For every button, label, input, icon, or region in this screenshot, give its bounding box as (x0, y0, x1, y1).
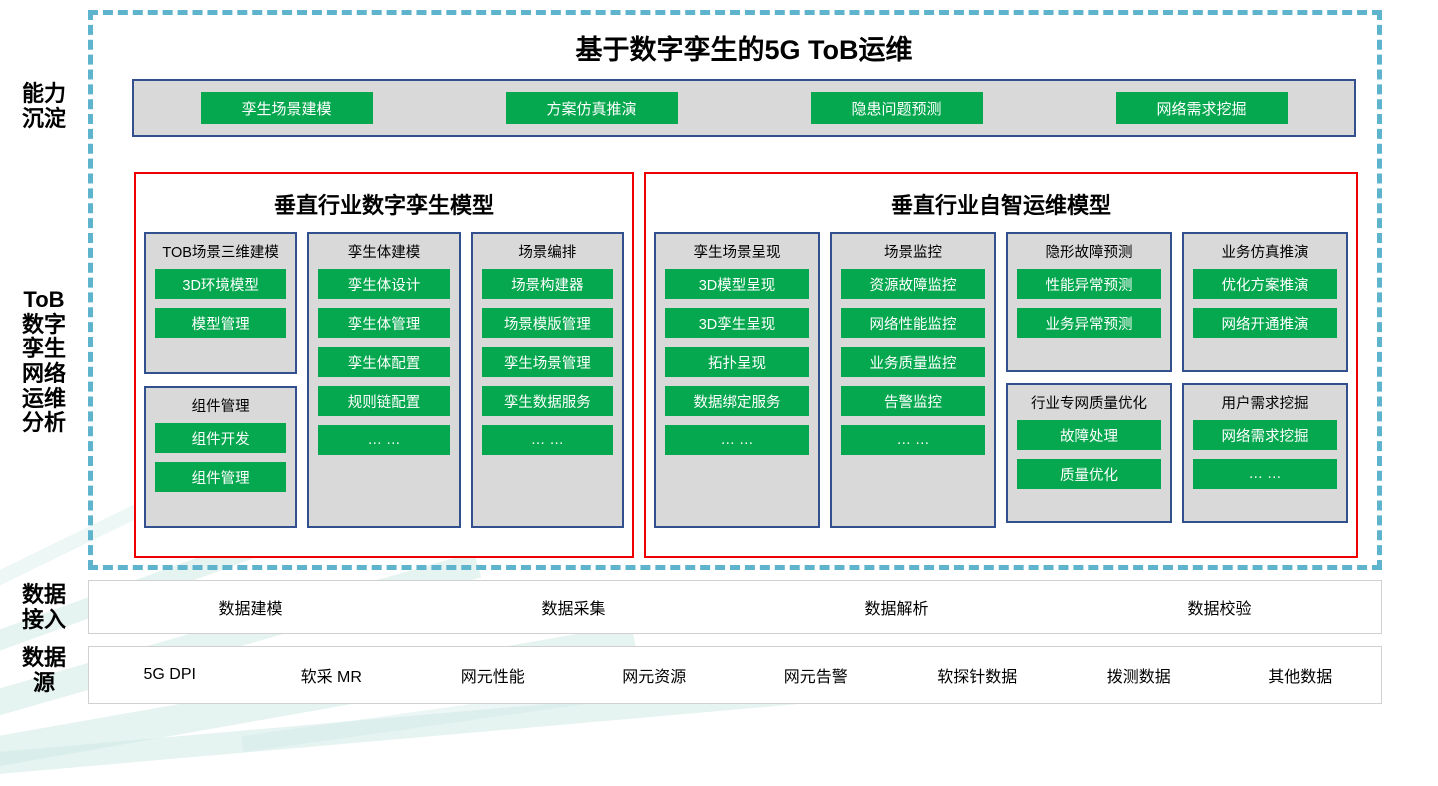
feature-chip[interactable]: 性能异常预测 (1017, 269, 1161, 299)
data-source-row: 5G DPI 软采 MR 网元性能 网元资源 网元告警 软探针数据 拨测数据 其… (88, 646, 1382, 704)
group-items: 性能异常预测 业务异常预测 (1017, 269, 1161, 338)
feature-chip[interactable]: 网络性能监控 (841, 308, 985, 338)
group-items: 孪生体设计 孪生体管理 孪生体配置 规则链配置 … … (318, 269, 449, 455)
feature-chip[interactable]: … … (318, 425, 449, 455)
group-items: 资源故障监控 网络性能监控 业务质量监控 告警监控 … … (841, 269, 985, 455)
diagram-canvas: 能力沉淀 ToB数字孪生网络运维分析 数据接入 数据源 基于数字孪生的5G To… (0, 0, 1438, 734)
feature-chip[interactable]: 优化方案推演 (1193, 269, 1337, 299)
feature-chip[interactable]: 孪生体配置 (318, 347, 449, 377)
feature-chip[interactable]: 网络需求挖掘 (1193, 420, 1337, 450)
capability-slot: 方案仿真推演 (439, 92, 744, 124)
feature-chip[interactable]: 3D环境模型 (155, 269, 286, 299)
ops-column-3: 隐形故障预测 性能异常预测 业务异常预测 行业专网质量优化 故障处理 质量优化 (1006, 232, 1172, 528)
feature-chip[interactable]: 模型管理 (155, 308, 286, 338)
feature-chip[interactable]: 质量优化 (1017, 459, 1161, 489)
feature-chip[interactable]: 孪生体设计 (318, 269, 449, 299)
side-label-tob: ToB数字孪生网络运维分析 (4, 288, 84, 436)
ops-column-4: 业务仿真推演 优化方案推演 网络开通推演 用户需求挖掘 网络需求挖掘 … … (1182, 232, 1348, 528)
data-access-cell: 数据解析 (735, 595, 1058, 619)
data-access-cell: 数据采集 (412, 595, 735, 619)
ops-model-panel-title: 垂直行业自智运维模型 (646, 188, 1356, 220)
side-label-capability: 能力沉淀 (4, 82, 84, 131)
data-source-cell: 其他数据 (1220, 663, 1382, 687)
feature-chip[interactable]: 规则链配置 (318, 386, 449, 416)
feature-chip[interactable]: 故障处理 (1017, 420, 1161, 450)
feature-chip[interactable]: … … (1193, 459, 1337, 489)
group-title: 孪生场景呈现 (665, 241, 809, 262)
group-scene-monitoring: 场景监控 资源故障监控 网络性能监控 业务质量监控 告警监控 … … (830, 232, 996, 528)
ops-model-columns: 孪生场景呈现 3D模型呈现 3D孪生呈现 拓扑呈现 数据绑定服务 … … 场景监… (654, 232, 1348, 528)
data-access-row: 数据建模 数据采集 数据解析 数据校验 (88, 580, 1382, 634)
group-items: 场景构建器 场景模版管理 孪生场景管理 孪生数据服务 … … (482, 269, 613, 455)
group-private-network-quality: 行业专网质量优化 故障处理 质量优化 (1006, 383, 1172, 523)
twin-model-columns: TOB场景三维建模 3D环境模型 模型管理 组件管理 组件开发 组件管理 (144, 232, 624, 528)
data-source-cell: 软采 MR (251, 663, 413, 687)
data-access-cell: 数据建模 (89, 595, 412, 619)
ops-column-2: 场景监控 资源故障监控 网络性能监控 业务质量监控 告警监控 … … (830, 232, 996, 528)
data-source-cell: 5G DPI (89, 666, 251, 684)
group-component-management: 组件管理 组件开发 组件管理 (144, 386, 297, 528)
group-items: 组件开发 组件管理 (155, 423, 286, 492)
feature-chip[interactable]: 场景模版管理 (482, 308, 613, 338)
group-title: TOB场景三维建模 (155, 241, 286, 262)
group-items: 3D模型呈现 3D孪生呈现 拓扑呈现 数据绑定服务 … … (665, 269, 809, 455)
main-title: 基于数字孪生的5G ToB运维 (130, 28, 1358, 64)
twin-column-3: 场景编排 场景构建器 场景模版管理 孪生场景管理 孪生数据服务 … … (471, 232, 624, 528)
group-title: 场景监控 (841, 241, 985, 262)
twin-column-2: 孪生体建模 孪生体设计 孪生体管理 孪生体配置 规则链配置 … … (307, 232, 460, 528)
group-title: 场景编排 (482, 241, 613, 262)
group-title: 用户需求挖掘 (1193, 392, 1337, 413)
data-access-cell: 数据校验 (1058, 595, 1381, 619)
feature-chip[interactable]: 网络开通推演 (1193, 308, 1337, 338)
side-label-data-access: 数据接入 (4, 583, 84, 632)
feature-chip[interactable]: 业务异常预测 (1017, 308, 1161, 338)
data-source-cell: 网元告警 (735, 663, 897, 687)
feature-chip[interactable]: 3D模型呈现 (665, 269, 809, 299)
capability-chip[interactable]: 方案仿真推演 (506, 92, 678, 124)
feature-chip[interactable]: 孪生场景管理 (482, 347, 613, 377)
feature-chip[interactable]: 告警监控 (841, 386, 985, 416)
ops-model-panel: 垂直行业自智运维模型 孪生场景呈现 3D模型呈现 3D孪生呈现 拓扑呈现 数据绑… (644, 172, 1358, 558)
group-business-simulation: 业务仿真推演 优化方案推演 网络开通推演 (1182, 232, 1348, 372)
twin-model-panel-title: 垂直行业数字孪生模型 (136, 188, 632, 220)
group-title: 行业专网质量优化 (1017, 392, 1161, 413)
group-title: 隐形故障预测 (1017, 241, 1161, 262)
feature-chip[interactable]: 组件开发 (155, 423, 286, 453)
capability-chip[interactable]: 隐患问题预测 (811, 92, 983, 124)
group-title: 孪生体建模 (318, 241, 449, 262)
feature-chip[interactable]: 数据绑定服务 (665, 386, 809, 416)
feature-chip[interactable]: 业务质量监控 (841, 347, 985, 377)
feature-chip[interactable]: 组件管理 (155, 462, 286, 492)
feature-chip[interactable]: 场景构建器 (482, 269, 613, 299)
group-items: 故障处理 质量优化 (1017, 420, 1161, 489)
group-title: 业务仿真推演 (1193, 241, 1337, 262)
capability-strip: 孪生场景建模 方案仿真推演 隐患问题预测 网络需求挖掘 (132, 79, 1356, 137)
feature-chip[interactable]: 资源故障监控 (841, 269, 985, 299)
capability-slot: 隐患问题预测 (744, 92, 1049, 124)
data-source-cell: 网元资源 (574, 663, 736, 687)
feature-chip[interactable]: … … (841, 425, 985, 455)
group-hidden-fault-prediction: 隐形故障预测 性能异常预测 业务异常预测 (1006, 232, 1172, 372)
feature-chip[interactable]: … … (482, 425, 613, 455)
ops-column-1: 孪生场景呈现 3D模型呈现 3D孪生呈现 拓扑呈现 数据绑定服务 … … (654, 232, 820, 528)
feature-chip[interactable]: 孪生体管理 (318, 308, 449, 338)
capability-slot: 网络需求挖掘 (1049, 92, 1354, 124)
group-items: 优化方案推演 网络开通推演 (1193, 269, 1337, 338)
twin-column-1: TOB场景三维建模 3D环境模型 模型管理 组件管理 组件开发 组件管理 (144, 232, 297, 528)
group-items: 网络需求挖掘 … … (1193, 420, 1337, 489)
feature-chip[interactable]: 3D孪生呈现 (665, 308, 809, 338)
group-twin-body-modeling: 孪生体建模 孪生体设计 孪生体管理 孪生体配置 规则链配置 … … (307, 232, 460, 528)
capability-chip[interactable]: 网络需求挖掘 (1116, 92, 1288, 124)
group-twin-scene-presentation: 孪生场景呈现 3D模型呈现 3D孪生呈现 拓扑呈现 数据绑定服务 … … (654, 232, 820, 528)
twin-model-panel: 垂直行业数字孪生模型 TOB场景三维建模 3D环境模型 模型管理 组件管理 组件… (134, 172, 634, 558)
capability-chip[interactable]: 孪生场景建模 (201, 92, 373, 124)
data-source-cell: 网元性能 (412, 663, 574, 687)
group-user-demand-mining: 用户需求挖掘 网络需求挖掘 … … (1182, 383, 1348, 523)
group-tob-3d-modeling: TOB场景三维建模 3D环境模型 模型管理 (144, 232, 297, 374)
group-items: 3D环境模型 模型管理 (155, 269, 286, 338)
capability-slot: 孪生场景建模 (134, 92, 439, 124)
feature-chip[interactable]: 孪生数据服务 (482, 386, 613, 416)
feature-chip[interactable]: … … (665, 425, 809, 455)
group-scene-orchestration: 场景编排 场景构建器 场景模版管理 孪生场景管理 孪生数据服务 … … (471, 232, 624, 528)
feature-chip[interactable]: 拓扑呈现 (665, 347, 809, 377)
side-label-data-source: 数据源 (4, 646, 84, 695)
group-title: 组件管理 (155, 395, 286, 416)
data-source-cell: 拨测数据 (1058, 663, 1220, 687)
data-source-cell: 软探针数据 (897, 663, 1059, 687)
